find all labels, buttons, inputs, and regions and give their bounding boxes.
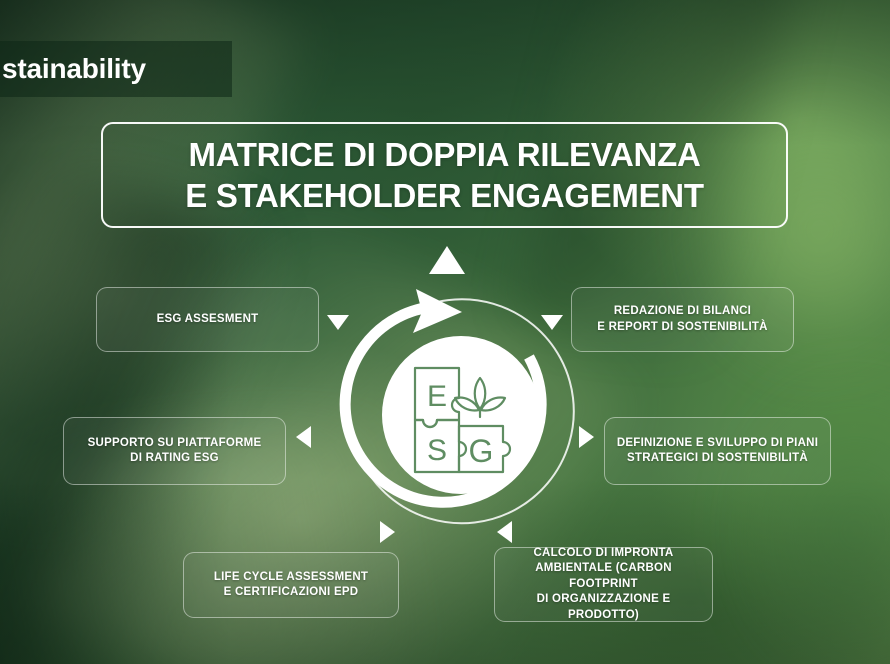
puzzle-letter-g: G [469,433,494,469]
callout-carbon-footprint[interactable]: CALCOLO DI IMPRONTA AMBIENTALE (CARBON F… [494,547,713,622]
callout-piani-strategici[interactable]: DEFINIZIONE E SVILUPPO DI PIANI STRATEGI… [604,417,831,485]
callout-line: E REPORT DI SOSTENIBILITÀ [597,321,767,333]
callout-supporto-rating[interactable]: SUPPORTO SU PIATTAFORME DI RATING ESG [63,417,286,485]
callout-redazione-bilanci-label: REDAZIONE DI BILANCI E REPORT DI SOSTENI… [597,304,767,335]
callout-line: DI ORGANIZZAZIONE E PRODOTTO) [537,593,671,621]
callout-line: STRATEGICI DI SOSTENIBILITÀ [627,452,808,464]
sustainability-tag-label: stainability [2,53,146,85]
triangle-up-icon [429,246,465,274]
triangle-right-icon [380,521,395,543]
callout-line: E CERTIFICAZIONI EPD [224,586,359,598]
puzzle-letter-s: S [427,434,447,467]
callout-line: DI RATING ESG [130,452,219,464]
callout-line: ESG ASSESMENT [157,313,259,325]
slide-canvas: stainability MATRICE DI DOPPIA RILEVANZA… [0,0,890,664]
triangle-left-icon [296,426,311,448]
callout-line: AMBIENTALE (CARBON FOOTPRINT [535,562,672,590]
callout-line: DEFINIZIONE E SVILUPPO DI PIANI [617,437,818,449]
callout-line: SUPPORTO SU PIATTAFORME [88,437,262,449]
callout-esg-assessment[interactable]: ESG ASSESMENT [96,287,319,352]
callout-redazione-bilanci[interactable]: REDAZIONE DI BILANCI E REPORT DI SOSTENI… [571,287,794,352]
callout-life-cycle-assessment[interactable]: LIFE CYCLE ASSESSMENT E CERTIFICAZIONI E… [183,552,399,618]
callout-line: REDAZIONE DI BILANCI [614,305,751,317]
puzzle-letter-e: E [427,380,447,413]
sustainability-tag: stainability [0,41,232,97]
triangle-down-icon [541,315,563,330]
callout-line: CALCOLO DI IMPRONTA [534,547,674,559]
hub-disc [382,336,540,494]
page-title-line-1: MATRICE DI DOPPIA RILEVANZA [189,134,701,175]
triangle-down-icon [327,315,349,330]
page-title: MATRICE DI DOPPIA RILEVANZA E STAKEHOLDE… [101,122,788,228]
callout-piani-strategici-label: DEFINIZIONE E SVILUPPO DI PIANI STRATEGI… [617,436,818,467]
callout-supporto-rating-label: SUPPORTO SU PIATTAFORME DI RATING ESG [88,436,262,467]
triangle-left-icon [497,521,512,543]
callout-carbon-footprint-label: CALCOLO DI IMPRONTA AMBIENTALE (CARBON F… [505,546,702,624]
callout-line: LIFE CYCLE ASSESSMENT [214,571,368,583]
triangle-right-icon [579,426,594,448]
callout-esg-assessment-label: ESG ASSESMENT [157,312,259,328]
page-title-line-2: E STAKEHOLDER ENGAGEMENT [185,175,703,216]
callout-life-cycle-assessment-label: LIFE CYCLE ASSESSMENT E CERTIFICAZIONI E… [214,570,368,601]
